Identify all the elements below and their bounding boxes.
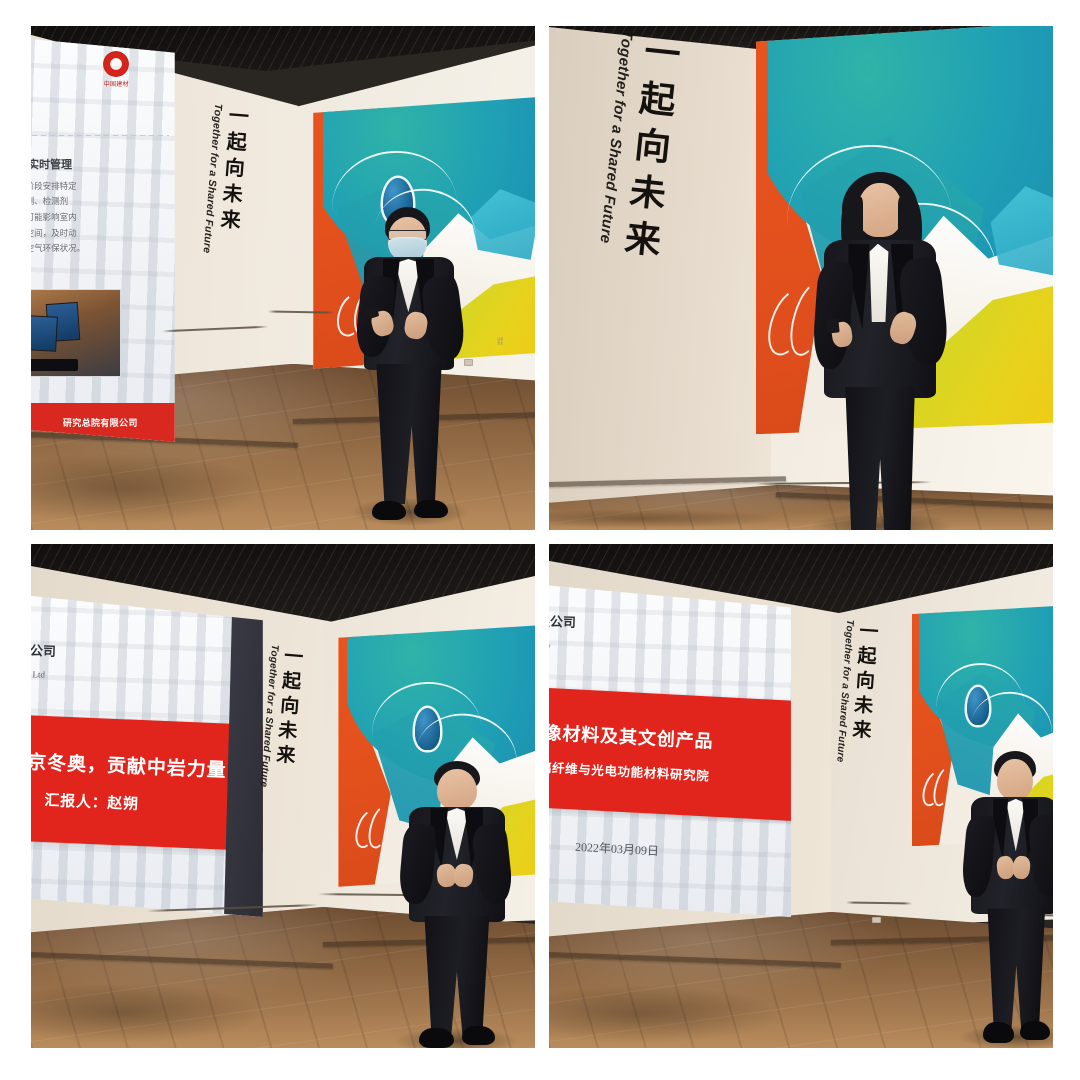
projection-screen: 有限公司 gy Co., Ltd 北京冬奥，贡献中岩力量 汇报人：赵朔	[31, 594, 263, 917]
projection-screen: 中国建材 量实时管理 工阶段安排特定 检测、检测剂 于可能影响室内 的空间，及时…	[31, 39, 175, 442]
slide-subtitle-text: 玻璃纤维与光电功能材料研究院	[549, 756, 791, 790]
figure-shadow	[351, 498, 466, 526]
slide-title-text: 传像材料及其文创产品	[549, 718, 791, 759]
slide-heading: 量实时管理	[31, 156, 172, 172]
photo-panel-bottom-left: 有限公司 gy Co., Ltd 北京冬奥，贡献中岩力量 汇报人：赵朔 Toge…	[31, 544, 535, 1048]
figure-shoe-right	[414, 500, 448, 519]
slide-line-4: 的空气环保状况。	[31, 241, 172, 257]
figure-shadow	[812, 512, 951, 530]
stanchion-post	[907, 897, 927, 988]
slide-top-cn-text: 有限公司	[31, 639, 56, 660]
photo-panel-bottom-right: 有限公司 ademy 传像材料及其文创产品 玻璃纤维与光电功能材料研究院 202…	[549, 544, 1053, 1048]
slide-top-en-text: gy Co., Ltd	[31, 668, 45, 679]
photo-panel-top-left: 中国建材 量实时管理 工阶段安排特定 检测、检测剂 于可能影响室内 的空间，及时…	[31, 26, 535, 530]
keyboard	[31, 359, 78, 371]
figure-shoe-left	[983, 1022, 1014, 1042]
figure-head	[997, 759, 1033, 800]
figure-shoe-left	[372, 501, 406, 520]
slide-footer-text: 研究总院有限公司	[63, 416, 138, 429]
cnbm-logo: 中国建材	[103, 51, 129, 88]
stanchion-post	[751, 480, 771, 530]
speaker-figure	[957, 751, 1053, 1043]
wall-outlet	[872, 917, 881, 923]
photo-panel-top-right: Together for a Shared Future 一起向未来	[549, 26, 1053, 530]
stanchion-post	[142, 907, 162, 1018]
figure-shoe-right	[1020, 1021, 1050, 1040]
figure-trousers	[375, 364, 443, 505]
speaker-figure	[806, 172, 957, 530]
photo-collage-grid: 中国建材 量实时管理 工阶段安排特定 检测、检测剂 于可能影响室内 的空间，及时…	[0, 0, 1080, 1080]
slide-equipment-photo	[31, 289, 121, 378]
slide-divider	[32, 135, 169, 136]
slide-line-3: 的空间，及时动	[31, 226, 172, 242]
figure-head	[857, 183, 902, 237]
presenter-remote	[826, 318, 840, 333]
wall-notice-text: 注意 安全	[497, 338, 515, 345]
figure-shadow	[396, 1028, 517, 1048]
figure-trousers	[842, 387, 918, 530]
slide-red-band: 传像材料及其文创产品 玻璃纤维与光电功能材料研究院	[549, 687, 791, 822]
slide-line-2: 于可能影响室内	[31, 210, 172, 226]
slide-line-1: 检测、检测剂	[31, 194, 172, 210]
cnbm-logo-mark	[103, 51, 129, 77]
speaker-figure	[343, 207, 474, 519]
slide-top-en-text: ademy	[549, 640, 550, 652]
slide-line-0: 工阶段安排特定	[31, 179, 172, 195]
figure-shoe-left	[419, 1028, 454, 1048]
monitor-2	[31, 315, 58, 351]
cnbm-logo-text: 中国建材	[104, 79, 129, 88]
figure-shoe-right	[462, 1026, 495, 1045]
stanchion-post	[157, 331, 177, 432]
projection-screen: 有限公司 ademy 传像材料及其文创产品 玻璃纤维与光电功能材料研究院 202…	[549, 584, 791, 917]
speaker-figure	[394, 761, 520, 1048]
figure-head	[437, 769, 477, 809]
slide-top-cn-text: 有限公司	[549, 610, 576, 631]
stanchion-post	[263, 308, 283, 381]
figure-trousers	[985, 908, 1048, 1031]
figure-trousers	[422, 916, 493, 1037]
stanchion-post	[841, 902, 861, 1003]
slide-text-block: 量实时管理 工阶段安排特定 检测、检测剂 于可能影响室内 的空间，及时动 的空气…	[31, 156, 172, 258]
